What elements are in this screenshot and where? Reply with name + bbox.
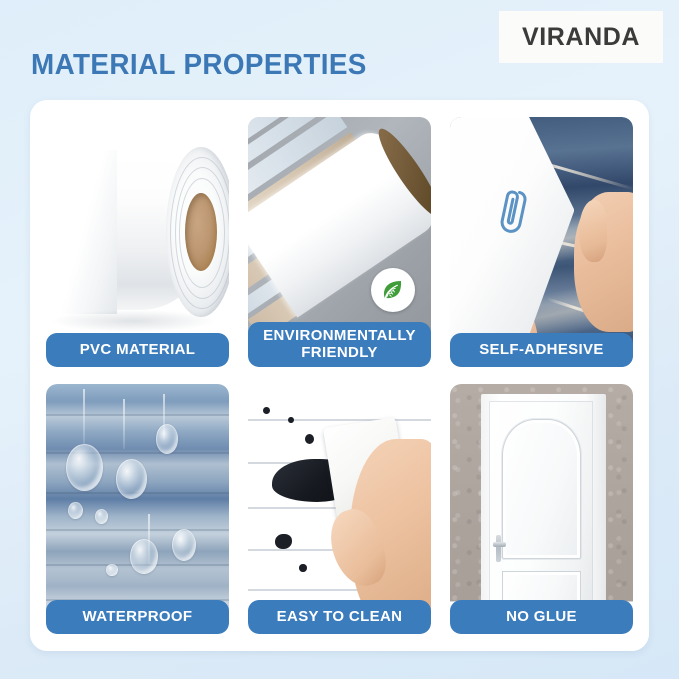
waterproof-image	[46, 384, 229, 634]
feature-label-waterproof: WATERPROOF	[46, 600, 229, 634]
paperclip-icon	[495, 184, 536, 244]
label-line-2: FRIENDLY	[301, 344, 377, 361]
no-glue-door-image	[450, 384, 633, 634]
product-feature-poster: VIRANDA MATERIAL PROPERTIES	[0, 0, 679, 679]
feature-grid: PVC MATERIAL	[46, 117, 633, 634]
label-line-1: ENVIRONMENTALLY	[263, 327, 416, 344]
feature-card-self-adhesive: SELF-ADHESIVE	[450, 117, 633, 367]
self-adhesive-image	[450, 117, 633, 367]
feature-card-easy-to-clean: EASY TO CLEAN	[248, 384, 431, 634]
brand-logo: VIRANDA	[499, 11, 663, 63]
pvc-roll-image	[46, 117, 229, 367]
easy-to-clean-image	[248, 384, 431, 634]
feature-label-no-glue: NO GLUE	[450, 600, 633, 634]
feature-card-no-glue: NO GLUE	[450, 384, 633, 634]
feature-card-environmentally-friendly: ENVIRONMENTALLY FRIENDLY	[248, 117, 431, 367]
feature-label-environmentally-friendly: ENVIRONMENTALLY FRIENDLY	[248, 322, 431, 367]
feature-card-waterproof: WATERPROOF	[46, 384, 229, 634]
feature-panel: PVC MATERIAL	[30, 100, 649, 651]
feature-label-easy-to-clean: EASY TO CLEAN	[248, 600, 431, 634]
brand-name: VIRANDA	[522, 23, 640, 52]
page-title: MATERIAL PROPERTIES	[31, 49, 367, 82]
feature-card-pvc-material: PVC MATERIAL	[46, 117, 229, 367]
feature-label-self-adhesive: SELF-ADHESIVE	[450, 333, 633, 367]
leaf-icon	[371, 268, 415, 312]
feature-label-pvc-material: PVC MATERIAL	[46, 333, 229, 367]
